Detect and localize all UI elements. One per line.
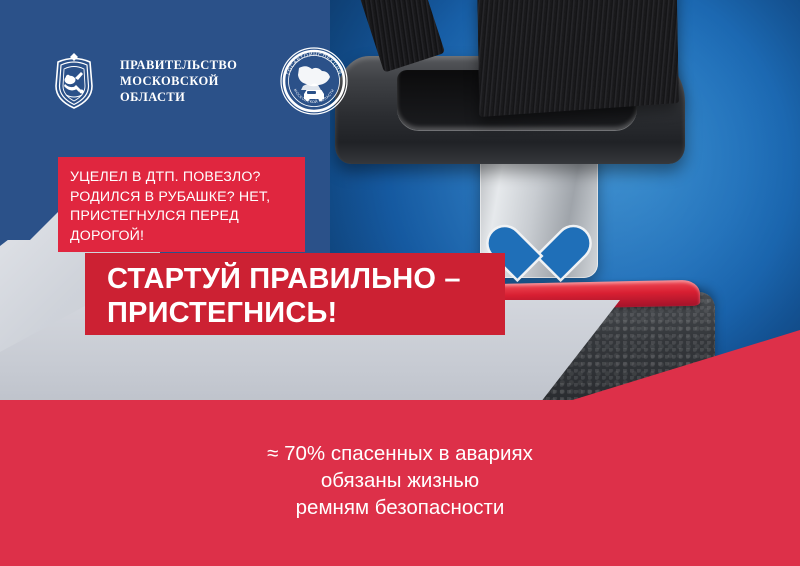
lead-message-text: УЦЕЛЕЛ В ДТП. ПОВЕЗЛО? РОДИЛСЯ В РУБАШКЕ…: [70, 168, 305, 246]
heart-cutout-icon: [508, 206, 570, 262]
headline-banner: СТАРТУЙ ПРАВИЛЬНО – ПРИСТЕГНИСЬ!: [85, 253, 505, 335]
footnote-line-3: ремням безопасности: [0, 494, 800, 521]
moscow-oblast-coat-of-arms-icon: [52, 52, 96, 110]
government-title: ПРАВИТЕЛЬСТВО МОСКОВСКОЙ ОБЛАСТИ: [120, 57, 237, 105]
footnote-line-1: ≈ 70% спасенных в авариях: [0, 440, 800, 467]
footnote-line-2: обязаны жизнью: [0, 467, 800, 494]
lead-message-box: УЦЕЛЕЛ В ДТП. ПОВЕЗЛО? РОДИЛСЯ В РУБАШКЕ…: [58, 157, 305, 252]
header-logos: ПРАВИТЕЛЬСТВО МОСКОВСКОЙ ОБЛАСТИ ГОСАВТО…: [52, 46, 349, 116]
seat-belt-webbing: [477, 0, 679, 117]
statistic-footnote: ≈ 70% спасенных в авариях обязаны жизнью…: [0, 440, 800, 521]
headline-text: СТАРТУЙ ПРАВИЛЬНО – ПРИСТЕГНИСЬ!: [107, 262, 505, 330]
gosavtoinspekciya-emblem-icon: ГОСАВТОИНСПЕКЦИЯ МОСКОВСКОЙ ОБЛАСТИ: [279, 46, 349, 116]
poster-canvas: ПРАВИТЕЛЬСТВО МОСКОВСКОЙ ОБЛАСТИ ГОСАВТО…: [0, 0, 800, 566]
